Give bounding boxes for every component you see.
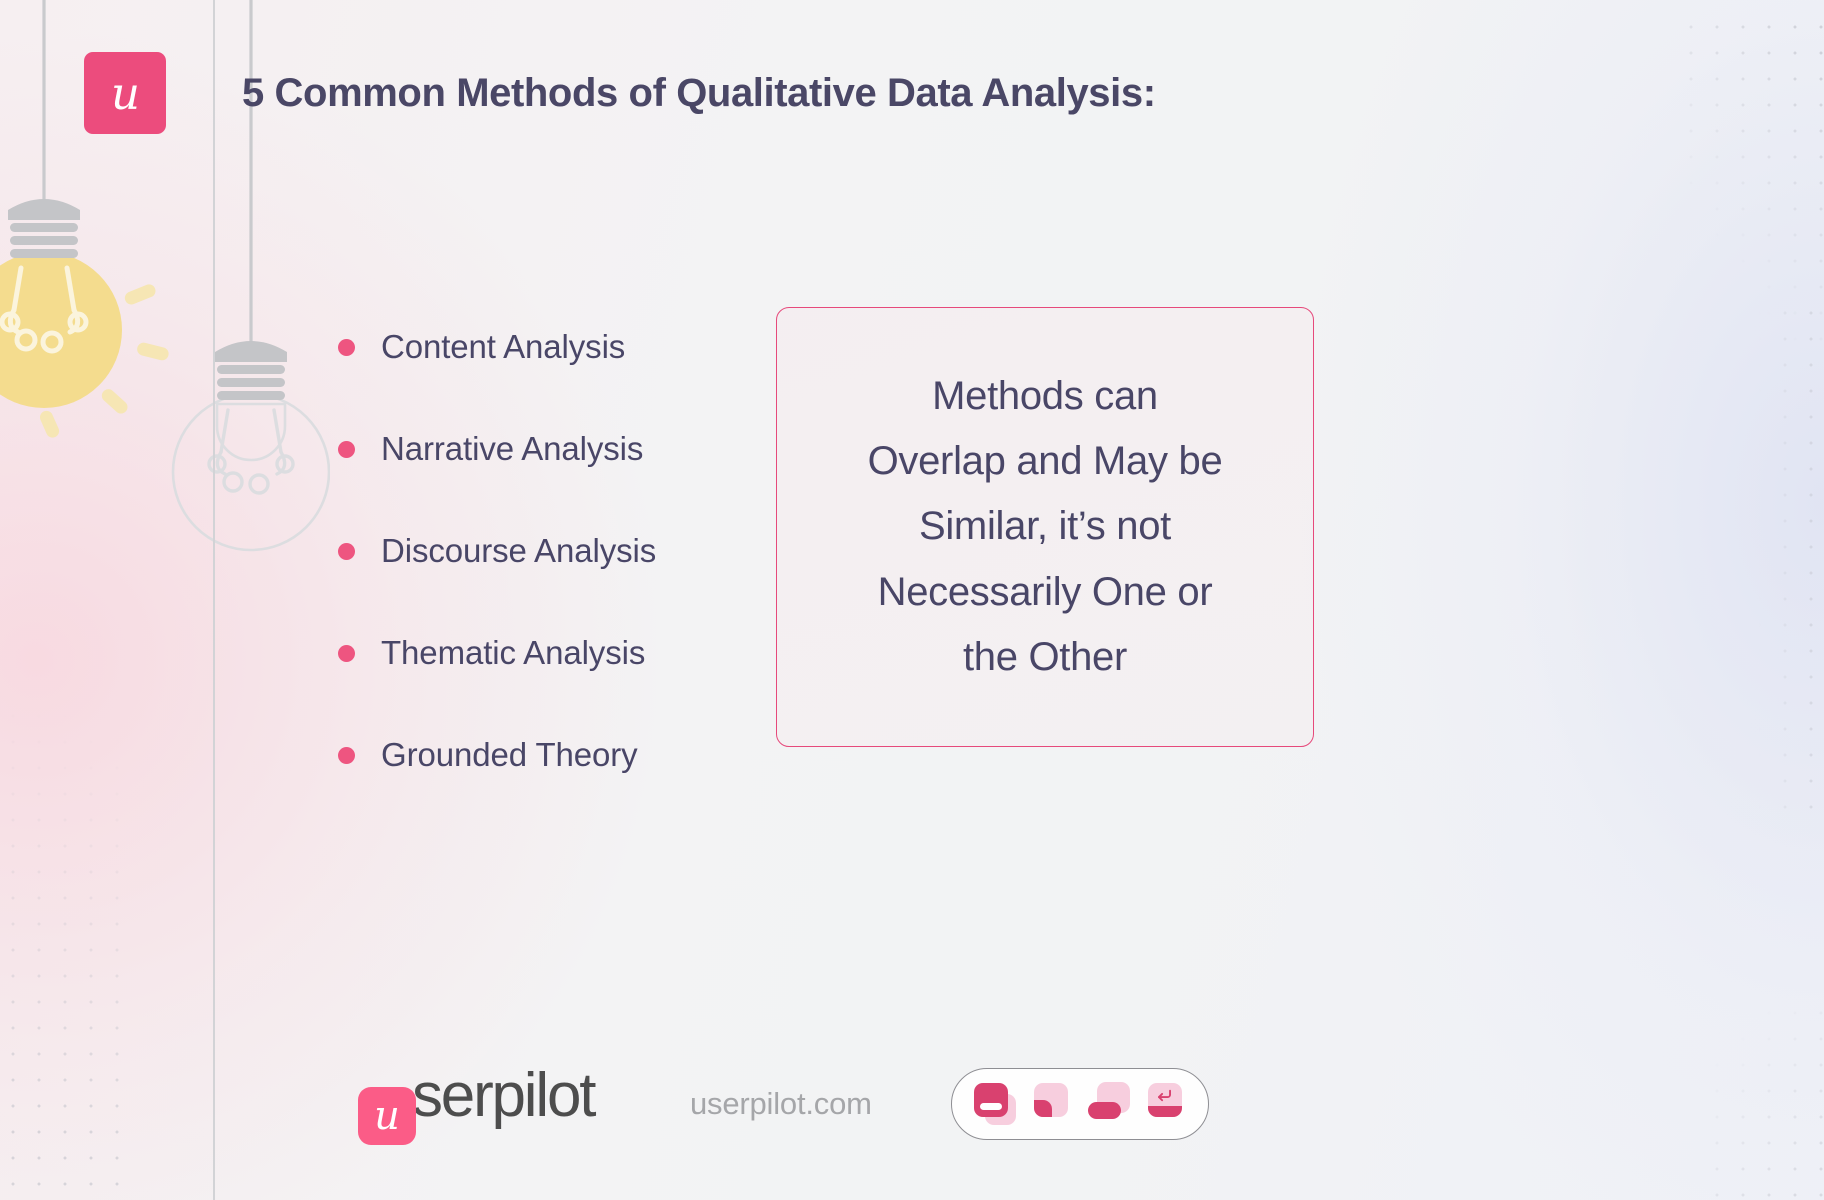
footer-logo-wordmark: serpilot bbox=[412, 1060, 594, 1131]
lightbulb-lit-icon bbox=[0, 199, 170, 440]
footer-logo-badge: u bbox=[358, 1087, 416, 1145]
header: u 5 Common Methods of Qualitative Data A… bbox=[84, 52, 1156, 134]
dot-grid-top-right bbox=[1678, 14, 1824, 344]
dot-grid-right-middle bbox=[1746, 300, 1824, 820]
userpilot-widget-bar[interactable] bbox=[951, 1068, 1209, 1140]
banner-icon[interactable] bbox=[1088, 1083, 1130, 1125]
footer-userpilot-logo: u serpilot bbox=[358, 1060, 594, 1132]
bullet-dot-icon bbox=[338, 339, 355, 356]
method-label: Grounded Theory bbox=[381, 736, 638, 774]
methods-list: Content Analysis Narrative Analysis Disc… bbox=[338, 296, 758, 806]
checklist-icon[interactable] bbox=[974, 1083, 1016, 1125]
userpilot-logo-badge: u bbox=[84, 52, 166, 134]
list-item: Discourse Analysis bbox=[338, 500, 758, 602]
callout-box: Methods can Overlap and May be Similar, … bbox=[776, 307, 1314, 747]
list-item: Narrative Analysis bbox=[338, 398, 758, 500]
tooltip-icon[interactable] bbox=[1031, 1083, 1073, 1125]
bullet-dot-icon bbox=[338, 441, 355, 458]
bullet-dot-icon bbox=[338, 645, 355, 662]
bullet-dot-icon bbox=[338, 747, 355, 764]
list-item: Thematic Analysis bbox=[338, 602, 758, 704]
method-label: Content Analysis bbox=[381, 328, 625, 366]
method-label: Narrative Analysis bbox=[381, 430, 643, 468]
method-label: Thematic Analysis bbox=[381, 634, 645, 672]
userpilot-u-glyph: u bbox=[111, 71, 139, 116]
footer-u-glyph: u bbox=[374, 1096, 400, 1136]
footer-domain-text: userpilot.com bbox=[690, 1086, 872, 1122]
footer: u serpilot userpilot.com bbox=[0, 1020, 1824, 1200]
bullet-dot-icon bbox=[338, 543, 355, 560]
infographic-canvas: u 5 Common Methods of Qualitative Data A… bbox=[0, 0, 1824, 1200]
method-label: Discourse Analysis bbox=[381, 532, 656, 570]
callout-text: Methods can Overlap and May be Similar, … bbox=[846, 364, 1245, 690]
page-title: 5 Common Methods of Qualitative Data Ana… bbox=[242, 71, 1156, 116]
list-item: Content Analysis bbox=[338, 296, 758, 398]
list-item: Grounded Theory bbox=[338, 704, 758, 806]
lightbulb-unlit-icon bbox=[173, 341, 329, 550]
modal-icon[interactable] bbox=[1145, 1083, 1187, 1125]
